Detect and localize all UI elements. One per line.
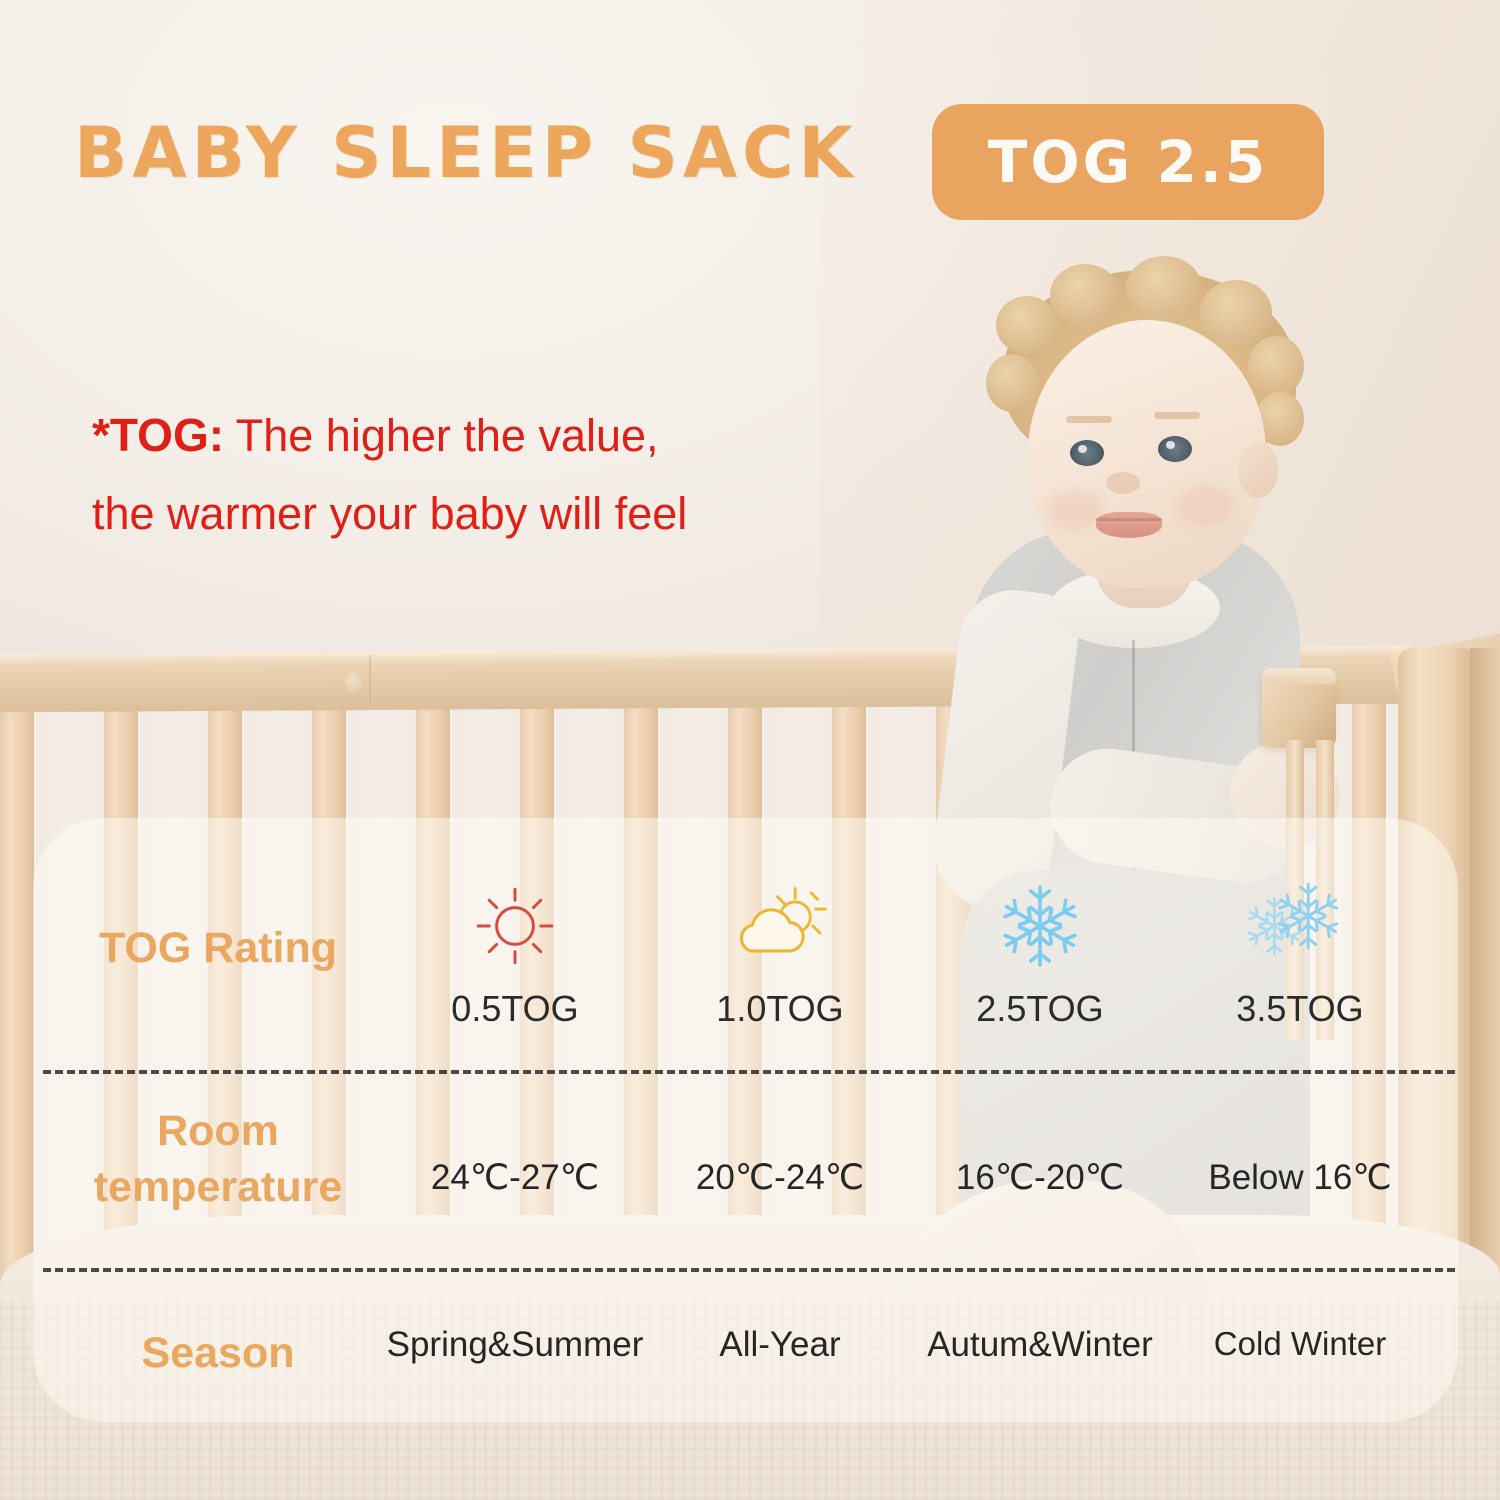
- table-cell-temperature: 16℃-20℃: [905, 1158, 1175, 1198]
- hair-curl: [1050, 264, 1120, 326]
- table-divider: [43, 1268, 1455, 1272]
- sun-icon: [380, 880, 650, 972]
- page-title: BABY SLEEP SACK: [74, 112, 858, 194]
- room-label-line2: temperature: [94, 1163, 343, 1211]
- tog-rating-value: 3.5TOG: [1165, 988, 1435, 1030]
- hair-curl: [1248, 336, 1304, 396]
- tog-rating-value: 2.5TOG: [905, 988, 1175, 1030]
- table-column-header: 3.5TOG: [1165, 880, 1435, 1030]
- crib-slat: [0, 700, 34, 1340]
- tog-note-prefix: *TOG:: [92, 409, 224, 461]
- tog-badge: TOG 2.5: [932, 104, 1324, 220]
- crib-grip-post-top: [1262, 668, 1336, 684]
- temperature-value: 16℃-20℃: [956, 1158, 1124, 1197]
- baby-nose: [1106, 472, 1140, 494]
- baby-mouth-line: [1096, 518, 1162, 521]
- temperature-value: Below 16℃: [1208, 1158, 1391, 1197]
- room-label-line1: Room: [157, 1107, 279, 1155]
- tog-rating-value: 1.0TOG: [645, 988, 915, 1030]
- season-value: All-Year: [719, 1325, 840, 1364]
- hair-curl: [1126, 256, 1202, 320]
- season-value: Cold Winter: [1214, 1325, 1386, 1362]
- table-column-header: 2.5TOG: [905, 880, 1175, 1030]
- row-label-room-temperature: Room temperature: [48, 1103, 388, 1215]
- table-cell-season: All-Year: [645, 1325, 915, 1365]
- baby-head: [1028, 320, 1266, 588]
- table-cell-season: Cold Winter: [1165, 1325, 1435, 1363]
- cloud-sun-icon: [645, 880, 915, 972]
- table-cell-temperature: 24℃-27℃: [380, 1158, 650, 1198]
- season-value: Autum&Winter: [927, 1325, 1153, 1364]
- hair-curl: [996, 296, 1058, 354]
- table-cell-season: Autum&Winter: [905, 1325, 1175, 1365]
- table-cell-temperature: Below 16℃: [1165, 1158, 1435, 1198]
- baby-eye: [1158, 436, 1192, 462]
- snowflake-icon: [905, 880, 1175, 972]
- double-snowflake-icon: [1165, 880, 1435, 972]
- table-column-header: 0.5TOG: [380, 880, 650, 1030]
- table-column-header: 1.0TOG: [645, 880, 915, 1030]
- hair-curl: [986, 354, 1038, 412]
- table-cell-temperature: 20℃-24℃: [645, 1158, 915, 1198]
- season-value: Spring&Summer: [387, 1325, 644, 1364]
- temperature-value: 20℃-24℃: [696, 1158, 864, 1197]
- tog-note-line1: The higher the value,: [224, 410, 658, 461]
- tog-rating-value: 0.5TOG: [380, 988, 650, 1030]
- baby-eyebrow: [1154, 412, 1200, 419]
- table-cell-season: Spring&Summer: [380, 1325, 650, 1365]
- baby-mouth: [1096, 512, 1162, 538]
- crib-rail-screw: [345, 672, 362, 693]
- row-label-tog-rating: TOG Rating: [48, 920, 388, 976]
- table-divider: [43, 1070, 1455, 1074]
- row-label-season: Season: [48, 1325, 388, 1381]
- tog-badge-label: TOG 2.5: [988, 128, 1268, 196]
- tog-note-line2: the warmer your baby will feel: [92, 488, 687, 539]
- baby-cheek: [1176, 486, 1234, 526]
- tog-explanation: *TOG: The higher the value, the warmer y…: [92, 396, 892, 553]
- baby-ear: [1238, 442, 1278, 498]
- product-infographic: BABY SLEEP SACK TOG 2.5 *TOG: The higher…: [0, 0, 1500, 1500]
- crib-rail-seam: [369, 655, 371, 705]
- temperature-value: 24℃-27℃: [431, 1158, 599, 1197]
- baby-eyebrow: [1066, 416, 1112, 423]
- baby-eye: [1070, 440, 1104, 466]
- hair-curl: [1200, 280, 1272, 346]
